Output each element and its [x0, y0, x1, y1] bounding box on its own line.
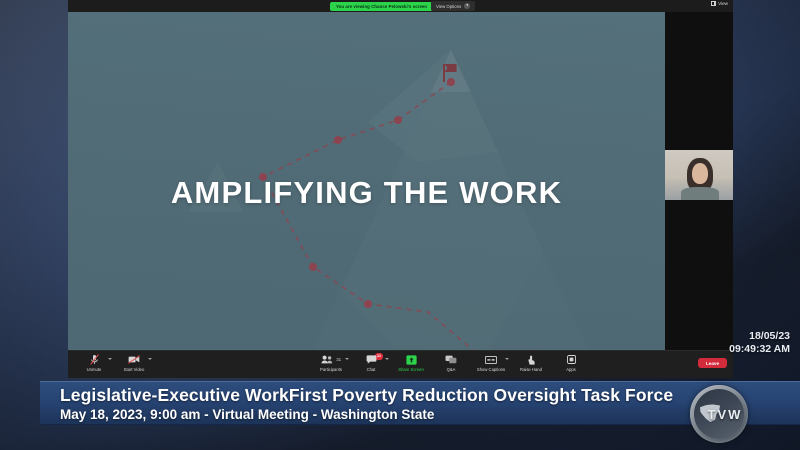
- lower-third-banner: Legislative-Executive WorkFirst Poverty …: [40, 381, 800, 425]
- screen-sharing-notice: You are viewing Chance Pelowski's screen: [330, 2, 433, 11]
- camera-off-icon: [128, 354, 140, 365]
- view-options-button[interactable]: View Options ▾: [431, 1, 475, 11]
- participant-face: [692, 163, 708, 184]
- raise-hand-icon: [527, 354, 535, 365]
- raise-hand-button[interactable]: Raise Hand: [511, 354, 551, 372]
- chat-button[interactable]: 11 Chat: [351, 354, 391, 372]
- chat-icon: [366, 354, 377, 365]
- start-video-button[interactable]: Start Video: [114, 354, 154, 372]
- qa-label: Q&A: [447, 367, 456, 372]
- view-layout-button[interactable]: View: [711, 1, 728, 6]
- participants-label: Participants: [320, 367, 342, 372]
- show-captions-label: Show Captions: [477, 367, 505, 372]
- unmute-button[interactable]: Unmute: [74, 354, 114, 372]
- unmute-label: Unmute: [87, 367, 102, 372]
- summit-flag-icon: [443, 64, 459, 82]
- chevron-down-icon: ▾: [464, 3, 470, 9]
- apps-label: Apps: [566, 367, 576, 372]
- closed-captions-icon: [485, 354, 497, 365]
- unmute-caret-icon[interactable]: [108, 358, 112, 360]
- apps-button[interactable]: Apps: [551, 354, 591, 372]
- shared-screen-content: AMPLIFYING THE WORK: [68, 12, 665, 350]
- flag-pole: [443, 64, 445, 82]
- view-options-label: View Options: [436, 4, 461, 9]
- qa-icon: [445, 354, 457, 365]
- apps-icon: [567, 354, 576, 365]
- start-video-caret-icon[interactable]: [148, 358, 152, 360]
- share-screen-label: Share Screen: [398, 367, 424, 372]
- participants-count: 31: [336, 357, 341, 362]
- banner-subtitle: May 18, 2023, 9:00 am - Virtual Meeting …: [60, 407, 673, 422]
- participant-torso: [681, 187, 719, 200]
- zoom-controls-toolbar: Unmute Start Video: [68, 350, 733, 378]
- share-screen-button[interactable]: Share Screen: [391, 354, 431, 372]
- broadcast-timestamp: 18/05/23 09:49:32 AM: [729, 330, 790, 356]
- qa-button[interactable]: Q&A: [431, 354, 471, 372]
- microphone-muted-icon: [90, 354, 99, 365]
- slide-title: AMPLIFYING THE WORK: [68, 175, 665, 211]
- raise-hand-label: Raise Hand: [520, 367, 542, 372]
- show-captions-caret-icon[interactable]: [505, 358, 509, 360]
- chat-caret-icon[interactable]: [385, 358, 389, 360]
- toolbar-left-group: Unmute Start Video: [74, 354, 154, 372]
- timestamp-time: 09:49:32 AM: [729, 343, 790, 356]
- participant-filmstrip: [665, 12, 733, 350]
- chat-label: Chat: [367, 367, 376, 372]
- toolbar-center-group: 31 Participants 11 Chat: [311, 354, 591, 372]
- view-button-label: View: [718, 1, 728, 6]
- grid-layout-icon: [711, 1, 716, 6]
- leave-meeting-button[interactable]: Leave: [698, 358, 727, 368]
- start-video-label: Start Video: [124, 367, 145, 372]
- tvw-logo-letters: TVW: [708, 407, 743, 422]
- participants-icon: 31: [321, 354, 341, 365]
- banner-text-block: Legislative-Executive WorkFirst Poverty …: [60, 385, 673, 422]
- banner-title: Legislative-Executive WorkFirst Poverty …: [60, 385, 673, 406]
- participants-button[interactable]: 31 Participants: [311, 354, 351, 372]
- flag-cloth: [445, 64, 457, 72]
- zoom-top-bar: You are viewing Chance Pelowski's screen…: [68, 0, 733, 12]
- tvw-logo: TVW: [690, 385, 748, 443]
- show-captions-button[interactable]: Show Captions: [471, 354, 511, 372]
- participants-caret-icon[interactable]: [345, 358, 349, 360]
- participant-video-tile[interactable]: [665, 150, 733, 200]
- timestamp-date: 18/05/23: [729, 330, 790, 343]
- tvw-logo-inner: TVW: [694, 389, 744, 439]
- zoom-meeting-window: You are viewing Chance Pelowski's screen…: [68, 0, 733, 378]
- share-screen-icon: [406, 354, 417, 365]
